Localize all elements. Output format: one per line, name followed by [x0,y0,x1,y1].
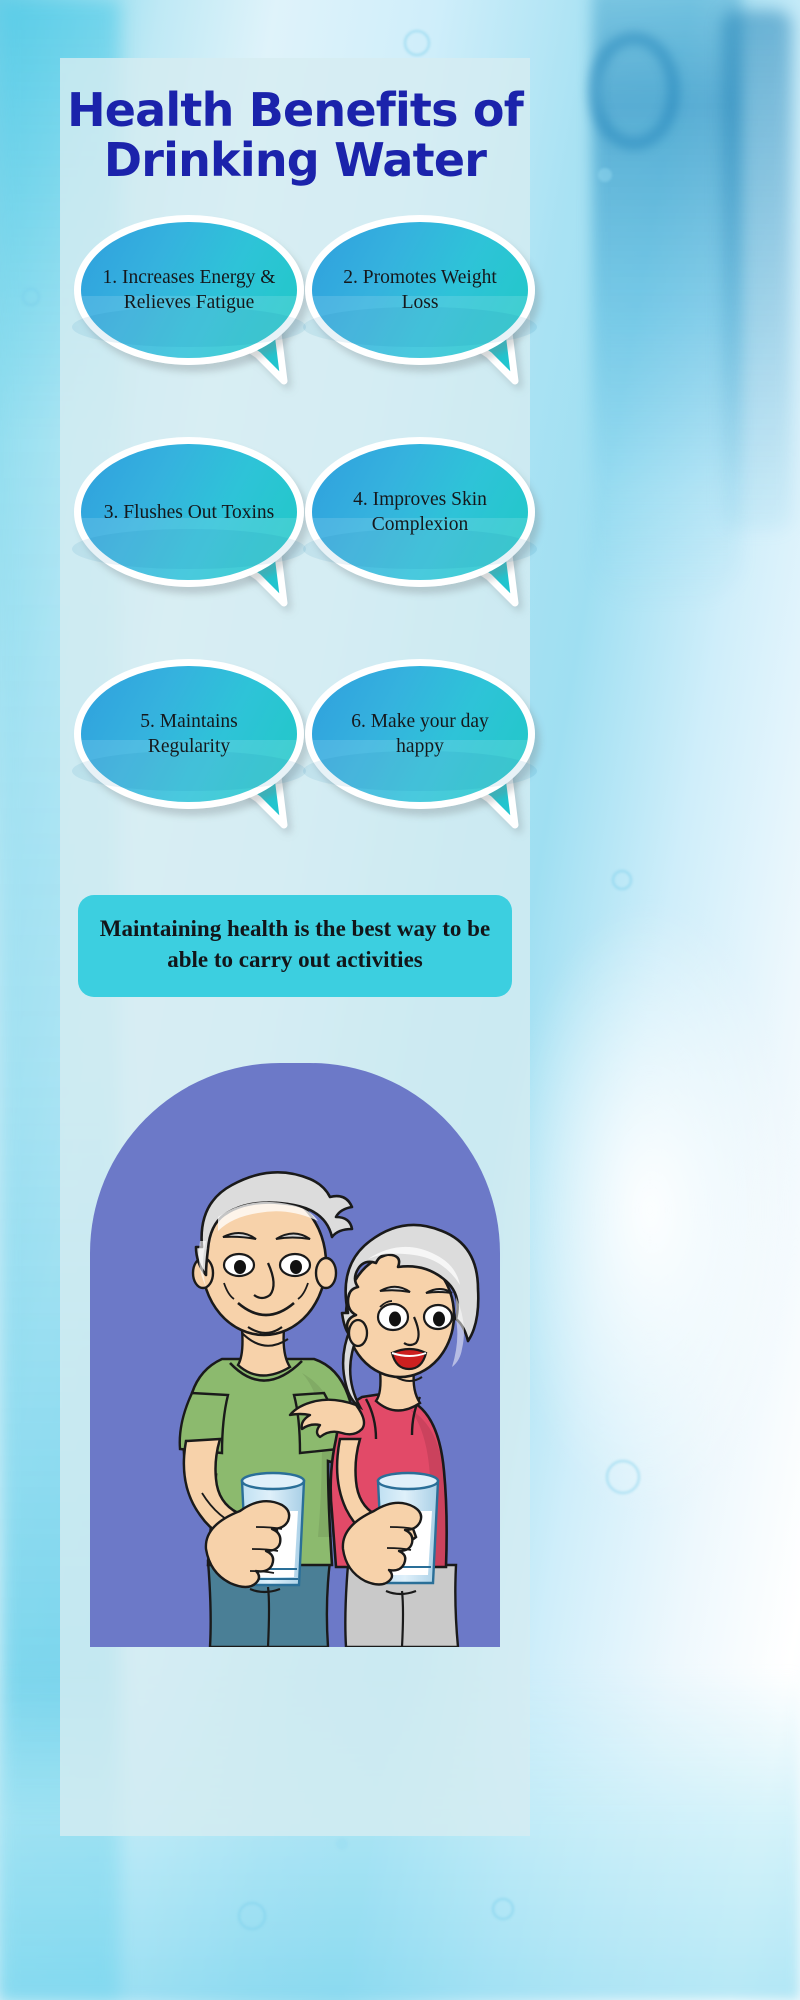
speech-bubble[interactable]: 5. Maintains Regularity [74,659,304,809]
benefit-label: 1. Increases Energy & Relieves Fatigue [81,265,297,316]
speech-bubble[interactable]: 4. Improves Skin Complexion [305,437,535,587]
benefit-item-3[interactable]: 3. Flushes Out Toxins [68,433,293,633]
benefit-item-1[interactable]: 1. Increases Energy & Relieves Fatigue [68,211,293,411]
water-bubble-decoration [22,288,40,306]
speech-bubble[interactable]: 6. Make your day happy [305,659,535,809]
page-title-line-1: Health Benefits of [67,83,523,137]
background-ring-highlight [588,32,680,150]
tagline-text: Maintaining health is the best way to be… [100,916,490,972]
benefit-label: 2. Promotes Weight Loss [312,265,528,316]
water-bubble-decoration [492,1898,514,1920]
benefit-item-2[interactable]: 2. Promotes Weight Loss [299,211,524,411]
water-bubble-decoration [606,1460,640,1494]
background-white-glow [500,900,800,1520]
tagline-banner: Maintaining health is the best way to be… [78,895,512,997]
couple-artwork [90,1041,500,1647]
benefit-item-5[interactable]: 5. Maintains Regularity [68,655,293,855]
benefit-item-6[interactable]: 6. Make your day happy [299,655,524,855]
water-bubble-decoration [404,30,430,56]
page-title: Health Benefits of Drinking Water [60,86,530,185]
benefit-label: 4. Improves Skin Complexion [312,487,528,538]
benefit-label: 6. Make your day happy [312,709,528,760]
speech-bubble[interactable]: 1. Increases Energy & Relieves Fatigue [74,215,304,365]
water-bubble-decoration [336,1838,348,1850]
water-bubble-decoration [238,1902,266,1930]
speech-bubble[interactable]: 3. Flushes Out Toxins [74,437,304,587]
speech-bubble[interactable]: 2. Promotes Weight Loss [305,215,535,365]
benefit-label: 5. Maintains Regularity [81,709,297,760]
water-bubble-decoration [612,870,632,890]
benefit-label: 3. Flushes Out Toxins [88,500,291,525]
background-water-bottle-secondary [722,10,792,530]
benefits-grid: 1. Increases Energy & Relieves Fatigue 2… [60,211,530,855]
illustration-elderly-couple [90,1041,500,1647]
content-panel: Health Benefits of Drinking Water 1. Inc… [60,58,530,1836]
page-title-line-2: Drinking Water [60,136,530,186]
water-bubble-decoration [598,168,612,182]
benefit-item-4[interactable]: 4. Improves Skin Complexion [299,433,524,633]
bubble-wave-shadow [72,529,305,570]
